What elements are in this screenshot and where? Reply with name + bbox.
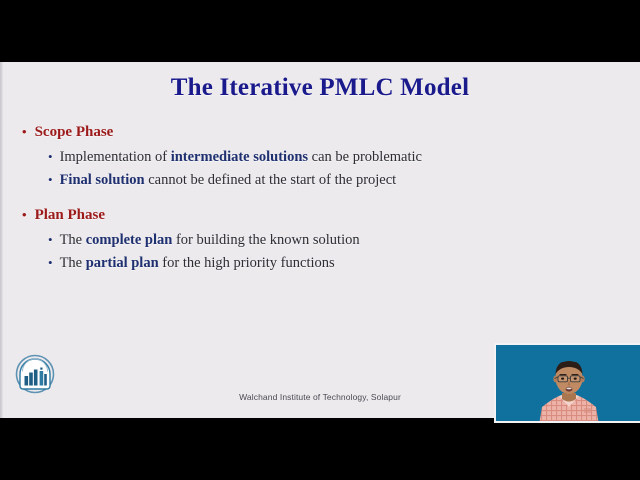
- bullet-icon: •: [22, 208, 27, 221]
- presenter-webcam-overlay: [494, 343, 640, 423]
- slide-title: The Iterative PMLC Model: [0, 74, 640, 102]
- text-fragment: for building the known solution: [172, 232, 359, 248]
- bullet-icon: •: [48, 233, 53, 246]
- list-item: • The partial plan for the high priority…: [48, 252, 618, 275]
- presenter-video-feed: [496, 345, 640, 421]
- slide-left-edge: [0, 62, 3, 418]
- list-item-text: Final solution cannot be defined at the …: [60, 169, 397, 192]
- text-fragment: The: [60, 232, 86, 248]
- video-player-frame: The Iterative PMLC Model • Scope Phase •…: [0, 0, 640, 480]
- phase-section-plan: • Plan Phase • The complete plan for bui…: [18, 207, 618, 276]
- phase-bullet-list-scope: • Implementation of intermediate solutio…: [48, 146, 618, 193]
- phase-heading-label: Scope Phase: [35, 124, 114, 141]
- walchand-institute-logo-icon: [14, 353, 56, 395]
- text-fragment-emphasis: Final solution: [60, 172, 145, 188]
- list-item-text: The complete plan for building the known…: [60, 229, 360, 252]
- text-fragment: Implementation of: [60, 149, 171, 165]
- list-item-text: The partial plan for the high priority f…: [60, 252, 335, 275]
- phase-heading-scope: • Scope Phase: [22, 124, 618, 141]
- slide-body: • Scope Phase • Implementation of interm…: [18, 124, 618, 290]
- phase-heading-plan: • Plan Phase: [22, 207, 618, 224]
- text-fragment-emphasis: complete plan: [86, 232, 173, 248]
- text-fragment: cannot be defined at the start of the pr…: [145, 172, 397, 188]
- text-fragment: The: [60, 255, 86, 271]
- list-item: • Final solution cannot be defined at th…: [48, 169, 618, 192]
- list-item: • Implementation of intermediate solutio…: [48, 146, 618, 169]
- bullet-icon: •: [48, 256, 53, 269]
- bullet-icon: •: [48, 173, 53, 186]
- text-fragment: for the high priority functions: [159, 255, 335, 271]
- bullet-icon: •: [22, 125, 27, 138]
- list-item: • The complete plan for building the kno…: [48, 229, 618, 252]
- bullet-icon: •: [48, 150, 53, 163]
- text-fragment-emphasis: partial plan: [86, 255, 159, 271]
- text-fragment: can be problematic: [308, 149, 422, 165]
- phase-bullet-list-plan: • The complete plan for building the kno…: [48, 229, 618, 276]
- phase-section-scope: • Scope Phase • Implementation of interm…: [18, 124, 618, 193]
- list-item-text: Implementation of intermediate solutions…: [60, 146, 422, 169]
- text-fragment-emphasis: intermediate solutions: [171, 149, 308, 165]
- phase-heading-label: Plan Phase: [35, 207, 105, 224]
